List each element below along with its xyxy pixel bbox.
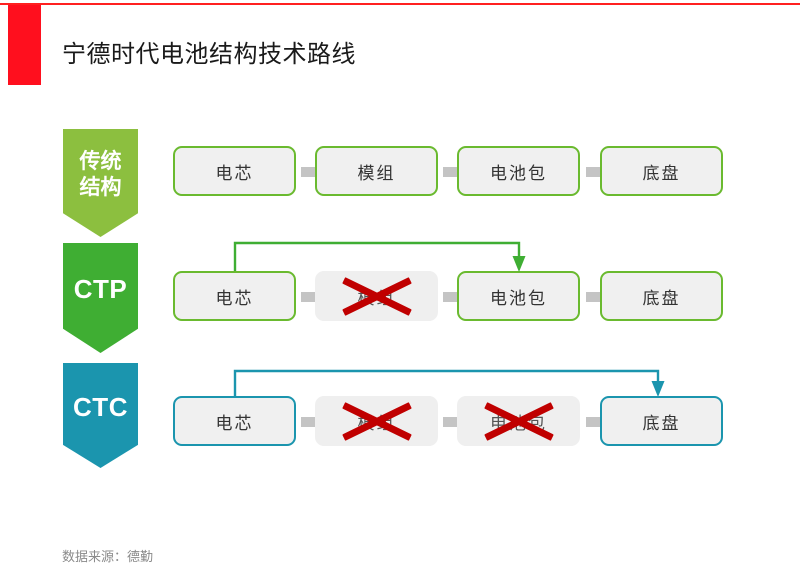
step-ctp-cell: 电芯 xyxy=(173,271,296,321)
stage-banner-traditional-label: 传统 结构 xyxy=(80,149,122,216)
process-row-ctc: 电芯 模组 电池包 底盘 xyxy=(173,396,722,446)
stage-banner-traditional: 传统 结构 xyxy=(63,129,138,237)
step-ctc-module-label: 模组 xyxy=(358,409,396,434)
step-ctc-module: 模组 xyxy=(315,396,438,446)
step-traditional-pack-label: 电池包 xyxy=(490,159,547,184)
step-ctp-pack: 电池包 xyxy=(457,271,580,321)
stage-banner-ctp: CTP xyxy=(63,243,138,353)
step-ctc-chassis: 底盘 xyxy=(600,396,723,446)
bypass-arrow-ctp xyxy=(235,243,526,272)
step-traditional-pack: 电池包 xyxy=(457,146,580,196)
step-traditional-module: 模组 xyxy=(315,146,438,196)
source-note: 数据来源：德勤 xyxy=(62,546,153,565)
step-traditional-cell: 电芯 xyxy=(173,146,296,196)
step-ctc-pack-label: 电池包 xyxy=(490,409,547,434)
step-ctc-cell: 电芯 xyxy=(173,396,296,446)
process-row-traditional: 电芯 模组 电池包 底盘 xyxy=(173,146,722,196)
stage-banner-ctp-label: CTP xyxy=(74,274,128,322)
bypass-arrow-ctc xyxy=(235,371,665,397)
battery-structure-roadmap-diagram: 传统 结构 CTP CTC 电芯 模组 电池包 底盘 电芯 模组 xyxy=(0,0,800,586)
stage-banner-traditional-line1: 传统 xyxy=(80,150,122,173)
process-row-ctp: 电芯 模组 电池包 底盘 xyxy=(173,271,722,321)
stage-banner-traditional-line2: 结构 xyxy=(80,176,122,199)
stage-banner-ctc: CTC xyxy=(63,363,138,468)
step-ctp-chassis-label: 底盘 xyxy=(643,284,681,309)
step-ctp-module: 模组 xyxy=(315,271,438,321)
step-traditional-cell-label: 电芯 xyxy=(216,159,254,184)
step-ctc-chassis-label: 底盘 xyxy=(643,409,681,434)
step-traditional-chassis: 底盘 xyxy=(600,146,723,196)
step-ctp-pack-label: 电池包 xyxy=(490,284,547,309)
step-traditional-chassis-label: 底盘 xyxy=(643,159,681,184)
step-ctp-module-label: 模组 xyxy=(358,284,396,309)
step-ctp-chassis: 底盘 xyxy=(600,271,723,321)
stage-banner-ctc-label: CTC xyxy=(73,392,128,440)
step-ctc-pack: 电池包 xyxy=(457,396,580,446)
step-ctc-cell-label: 电芯 xyxy=(216,409,254,434)
step-ctp-cell-label: 电芯 xyxy=(216,284,254,309)
step-traditional-module-label: 模组 xyxy=(358,159,396,184)
